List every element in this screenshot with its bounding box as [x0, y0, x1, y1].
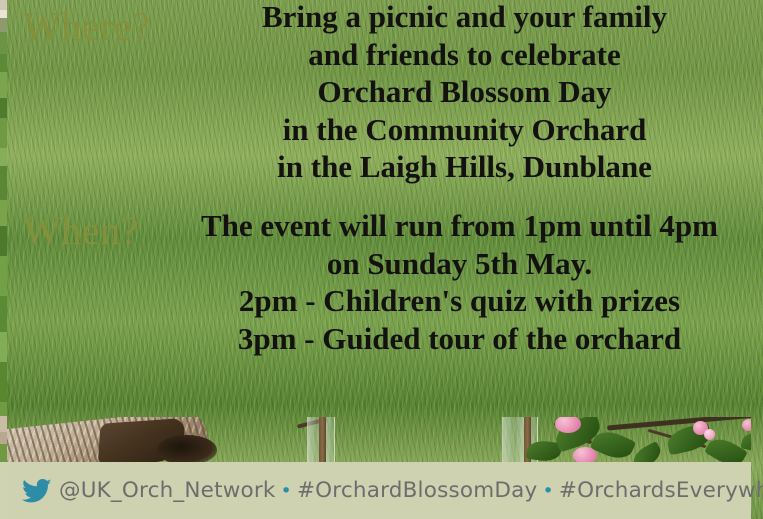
sliver-band [0, 416, 7, 432]
hashtag-orchard-blossom-day[interactable]: #OrchardBlossomDay [297, 478, 537, 503]
log-shadow [157, 435, 217, 462]
where-line-3: Orchard Blossom Day [166, 73, 763, 111]
twitter-handle[interactable]: @UK_Orch_Network [59, 478, 276, 503]
poster-text-content: Where? Bring a picnic and your family an… [0, 0, 763, 417]
when-line-2: on Sunday 5th May. [156, 245, 763, 283]
where-heading: Where? [23, 3, 150, 50]
where-line-4: in the Community Orchard [166, 111, 763, 149]
pink-blossom [742, 419, 751, 431]
where-line-5: in the Laigh Hills, Dunblane [166, 148, 763, 186]
when-schedule-3pm: 3pm - Guided tour of the orchard [156, 320, 763, 358]
footer-social-text: @UK_Orch_Network•#OrchardBlossomDay•#Orc… [59, 478, 763, 503]
twitter-bird-icon[interactable] [20, 476, 54, 506]
when-body-text: The event will run from 1pm until 4pm on… [156, 207, 763, 357]
separator-bullet-1: • [276, 480, 297, 502]
when-heading: When? [23, 207, 139, 254]
tree-stake [319, 417, 326, 462]
pink-blossom-bud [704, 429, 715, 440]
when-line-1: The event will run from 1pm until 4pm [156, 207, 763, 245]
sliver-band [0, 444, 7, 462]
orchard-photo-band [7, 417, 751, 462]
where-line-2: and friends to celebrate [166, 36, 763, 74]
orchard-blossom-day-poster: Where? Bring a picnic and your family an… [0, 0, 763, 519]
where-body-text: Bring a picnic and your family and frien… [166, 0, 763, 186]
separator-bullet-2: • [537, 480, 558, 502]
hashtag-orchards-everywhere[interactable]: #OrchardsEverywhere [559, 478, 763, 503]
sliver-band [0, 432, 7, 444]
where-line-1: Bring a picnic and your family [166, 0, 763, 36]
footer-social-strip: @UK_Orch_Network•#OrchardBlossomDay•#Orc… [7, 462, 751, 519]
sliver-band [0, 462, 7, 519]
when-schedule-2pm: 2pm - Children's quiz with prizes [156, 282, 763, 320]
